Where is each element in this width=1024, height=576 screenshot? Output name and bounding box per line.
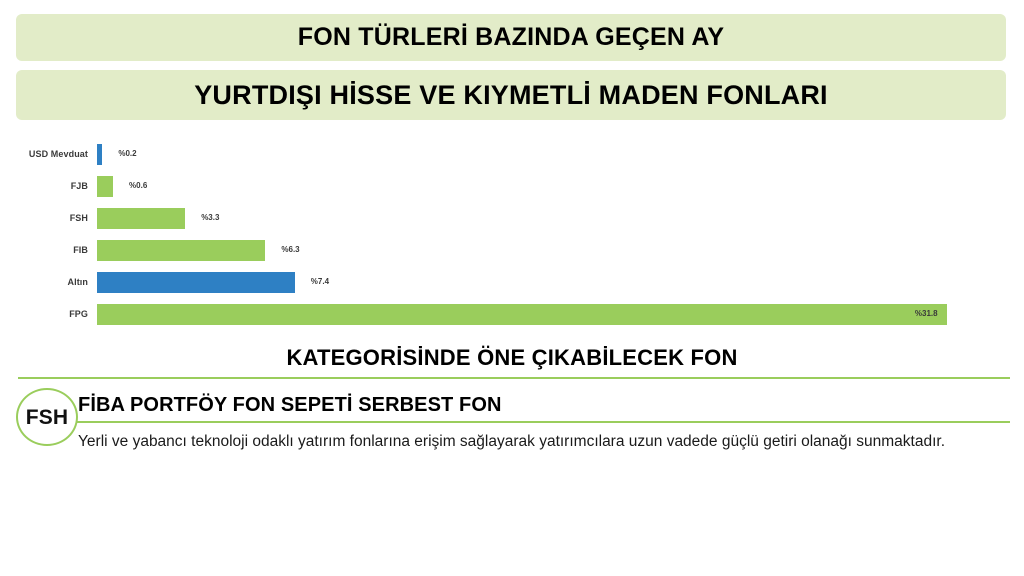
header-banner-secondary: YURTDIŞI HİSSE VE KIYMETLİ MADEN FONLARI [16, 70, 1006, 120]
bar-fill [97, 240, 265, 261]
bar-value-label: %3.3 [201, 214, 219, 222]
header-banner-primary: FON TÜRLERİ BAZINDA GEÇEN AY [16, 14, 1006, 61]
bar-category-label: FJB [0, 170, 88, 202]
fund-description: Yerli ve yabancı teknoloji odaklı yatırı… [78, 430, 998, 454]
fund-code-badge: FSH [16, 388, 78, 446]
bar-row: Altın%7.4 [0, 266, 1024, 298]
header-banner-secondary-text: YURTDIŞI HİSSE VE KIYMETLİ MADEN FONLARI [194, 82, 828, 109]
bar-track: %7.4 [97, 266, 1024, 298]
bar-value-label: %31.8 [915, 310, 938, 318]
bar-track: %6.3 [97, 234, 1024, 266]
bar-fill [97, 304, 947, 325]
bar-row: FSH%3.3 [0, 202, 1024, 234]
divider-middle [18, 421, 1010, 423]
bar-row: FJB%0.6 [0, 170, 1024, 202]
bar-track: %3.3 [97, 202, 1024, 234]
fund-performance-bar-chart: USD Mevduat%0.2FJB%0.6FSH%3.3FIB%6.3Altı… [0, 138, 1024, 328]
bar-row: USD Mevduat%0.2 [0, 138, 1024, 170]
bar-value-label: %0.6 [129, 182, 147, 190]
bar-value-label: %7.4 [311, 278, 329, 286]
fund-title: FİBA PORTFÖY FON SEPETİ SERBEST FON [78, 394, 502, 417]
bar-value-label: %0.2 [118, 150, 136, 158]
fund-code-badge-label: FSH [26, 407, 69, 428]
bar-category-label: FIB [0, 234, 88, 266]
bar-row: FIB%6.3 [0, 234, 1024, 266]
bar-category-label: USD Mevduat [0, 138, 88, 170]
bar-category-label: Altın [0, 266, 88, 298]
bar-fill [97, 176, 113, 197]
bar-fill [97, 272, 295, 293]
bar-value-label: %6.3 [281, 246, 299, 254]
bar-track: %0.2 [97, 138, 1024, 170]
bar-fill [97, 144, 102, 165]
section-heading: KATEGORİSİNDE ÖNE ÇIKABİLECEK FON [0, 345, 1024, 371]
bar-row: FPG%31.8 [0, 298, 1024, 330]
bar-track: %0.6 [97, 170, 1024, 202]
bar-category-label: FSH [0, 202, 88, 234]
bar-category-label: FPG [0, 298, 88, 330]
header-banner-primary-text: FON TÜRLERİ BAZINDA GEÇEN AY [298, 25, 724, 50]
bar-track: %31.8 [97, 298, 1024, 330]
divider-top [18, 377, 1010, 379]
bar-fill [97, 208, 185, 229]
